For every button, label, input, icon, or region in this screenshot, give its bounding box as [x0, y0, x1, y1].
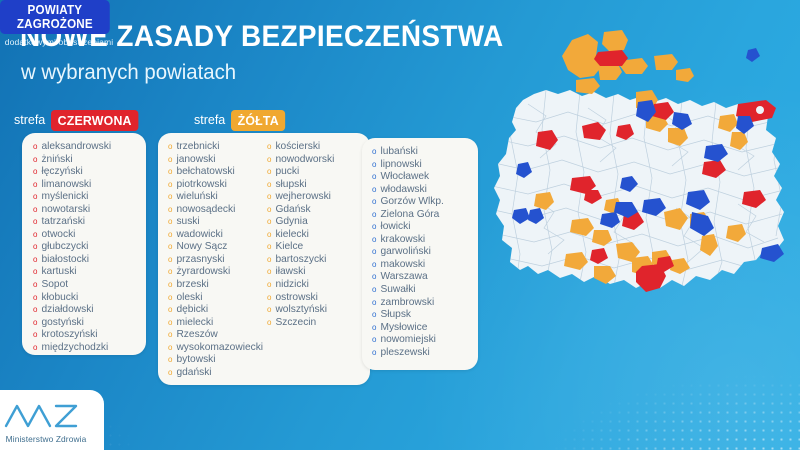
list-item: otatrzański — [33, 216, 111, 229]
list-item: ożyrardowski — [168, 266, 263, 279]
list-item: owejherowski — [267, 191, 334, 204]
yellow-zone-word: strefa — [194, 113, 225, 127]
bullet-icon: o — [372, 284, 376, 297]
list-item: oWarszawa — [372, 271, 444, 284]
list-item: okielecki — [267, 229, 334, 242]
list-item-label: bytowski — [176, 354, 215, 367]
list-item: ooleski — [168, 292, 263, 305]
list-item: obełchatowski — [168, 166, 263, 179]
list-item-label: bełchatowski — [176, 166, 234, 179]
bullet-icon: o — [267, 191, 271, 204]
list-item-label: wolsztyński — [275, 304, 327, 317]
bullet-icon: o — [372, 334, 376, 347]
list-item-label: Włocławek — [380, 171, 429, 184]
list-item: ołęczyński — [33, 166, 111, 179]
bullet-icon: o — [372, 271, 376, 284]
list-item-label: nowosądecki — [176, 204, 235, 217]
list-item-label: zambrowski — [380, 297, 434, 310]
list-item: olubański — [372, 146, 444, 159]
red-zone-badge: CZERWONA — [51, 110, 138, 131]
list-item: okartuski — [33, 266, 111, 279]
bullet-icon: o — [168, 254, 172, 267]
list-item-label: przasnyski — [176, 254, 224, 267]
list-item-label: Mysłowice — [380, 322, 427, 335]
list-item-label: wejherowski — [275, 191, 330, 204]
list-item-label: krakowski — [380, 234, 425, 247]
list-item: onidzicki — [267, 279, 334, 292]
bullet-icon: o — [33, 292, 37, 305]
list-item: obrzeski — [168, 279, 263, 292]
bullet-icon: o — [168, 191, 172, 204]
list-item-label: lipnowski — [380, 159, 421, 172]
bullet-icon: o — [372, 221, 376, 234]
list-item: onowotarski — [33, 204, 111, 217]
list-item: ogostyński — [33, 317, 111, 330]
list-item-label: oleski — [176, 292, 202, 305]
bullet-icon: o — [372, 159, 376, 172]
bullet-icon: o — [168, 304, 172, 317]
list-item: oprzasnyski — [168, 254, 263, 267]
list-item-label: białostocki — [41, 254, 89, 267]
list-item-label: Nowy Sącz — [176, 241, 227, 254]
bullet-icon: o — [372, 196, 376, 209]
list-item: ogarwoliński — [372, 246, 444, 259]
bullet-icon: o — [168, 354, 172, 367]
bullet-icon: o — [267, 266, 271, 279]
list-item-label: trzebnicki — [176, 141, 219, 154]
ministry-logo-panel: Ministerstwo Zdrowia — [0, 390, 104, 450]
list-item-label: wadowicki — [176, 229, 222, 242]
list-item-label: garwoliński — [380, 246, 430, 259]
bullet-icon: o — [168, 329, 172, 342]
poland-counties-map — [476, 4, 800, 404]
list-item: oaleksandrowski — [33, 141, 111, 154]
list-item-label: wieluński — [176, 191, 217, 204]
list-item: owysokomazowiecki — [168, 342, 263, 355]
list-item-label: Rzeszów — [176, 329, 217, 342]
list-item: omielecki — [168, 317, 263, 330]
list-item: ogdański — [168, 367, 263, 380]
list-item-label: Szczecin — [275, 317, 316, 330]
list-item: oGdynia — [267, 216, 334, 229]
bullet-icon: o — [33, 241, 37, 254]
list-item: oZielona Góra — [372, 209, 444, 222]
list-item-label: lubański — [380, 146, 417, 159]
list-item: okłobucki — [33, 292, 111, 305]
list-item-label: kłobucki — [41, 292, 78, 305]
bullet-icon: o — [267, 166, 271, 179]
bullet-icon: o — [33, 317, 37, 330]
list-item: opucki — [267, 166, 334, 179]
list-item: omakowski — [372, 259, 444, 272]
list-item: okrotoszyński — [33, 329, 111, 342]
list-item-label: Suwałki — [380, 284, 415, 297]
list-item-label: żniński — [41, 154, 72, 167]
list-item: oSzczecin — [267, 317, 334, 330]
bullet-icon: o — [33, 191, 37, 204]
list-item-label: wysokomazowiecki — [176, 342, 263, 355]
list-item: owieluński — [168, 191, 263, 204]
list-item: okrakowski — [372, 234, 444, 247]
list-item-label: kościerski — [275, 141, 320, 154]
list-item-label: nowotarski — [41, 204, 90, 217]
list-item: onowomiejski — [372, 334, 444, 347]
list-item: owłodawski — [372, 184, 444, 197]
bullet-icon: o — [168, 367, 172, 380]
list-item-label: łęczyński — [41, 166, 82, 179]
list-item-label: kartuski — [41, 266, 76, 279]
red-zone-header: strefa CZERWONA — [14, 110, 143, 131]
bullet-icon: o — [168, 154, 172, 167]
bullet-icon: o — [372, 259, 376, 272]
list-item: ojanowski — [168, 154, 263, 167]
list-item-label: bartoszycki — [275, 254, 326, 267]
list-item: ołowicki — [372, 221, 444, 234]
list-item-label: pleszewski — [380, 347, 429, 360]
list-item: opleszewski — [372, 347, 444, 360]
bullet-icon: o — [372, 347, 376, 360]
bullet-icon: o — [372, 309, 376, 322]
bullet-icon: o — [168, 179, 172, 192]
bullet-icon: o — [33, 204, 37, 217]
bullet-icon: o — [33, 179, 37, 192]
list-item-label: makowski — [380, 259, 425, 272]
list-item: oRzeszów — [168, 329, 263, 342]
list-item: oiławski — [267, 266, 334, 279]
list-item-label: krotoszyński — [41, 329, 97, 342]
bullet-icon: o — [267, 279, 271, 292]
list-item-label: Gorzów Wlkp. — [380, 196, 443, 209]
bullet-icon: o — [372, 171, 376, 184]
list-item-label: ostrowski — [275, 292, 317, 305]
bullet-icon: o — [33, 141, 37, 154]
threatened-zone-list: olubańskiolipnowskioWłocławekowłodawskio… — [372, 146, 444, 359]
list-item: onowosądecki — [168, 204, 263, 217]
list-item: opiotrkowski — [168, 179, 263, 192]
list-item-label: Gdynia — [275, 216, 307, 229]
bullet-icon: o — [372, 246, 376, 259]
bullet-icon: o — [168, 241, 172, 254]
bullet-icon: o — [33, 266, 37, 279]
bullet-icon: o — [168, 166, 172, 179]
list-item: obytowski — [168, 354, 263, 367]
bullet-icon: o — [267, 216, 271, 229]
list-item-label: gostyński — [41, 317, 83, 330]
list-item-label: głubczycki — [41, 241, 88, 254]
bullet-icon: o — [33, 342, 37, 355]
list-item: osłupski — [267, 179, 334, 192]
list-item: oWłocławek — [372, 171, 444, 184]
list-item-label: Gdańsk — [275, 204, 310, 217]
list-item-label: tatrzański — [41, 216, 85, 229]
bullet-icon: o — [168, 229, 172, 242]
infographic-poster: NOWE ZASADY BEZPIECZEŃSTWA w wybranych p… — [0, 0, 800, 450]
list-item: obartoszycki — [267, 254, 334, 267]
list-item-label: suski — [176, 216, 199, 229]
bullet-icon: o — [168, 141, 172, 154]
list-item: odziałdowski — [33, 304, 111, 317]
list-item: owadowicki — [168, 229, 263, 242]
list-item-label: działdowski — [41, 304, 93, 317]
bullet-icon: o — [168, 317, 172, 330]
list-item-label: międzychodzki — [41, 342, 108, 355]
bullet-icon: o — [168, 216, 172, 229]
list-item-label: pucki — [275, 166, 299, 179]
list-item-label: łowicki — [380, 221, 410, 234]
threatened-zone-badge: POWIATY ZAGROŻONE — [0, 0, 110, 34]
list-item-label: słupski — [275, 179, 306, 192]
bullet-icon: o — [267, 141, 271, 154]
list-item: otrzebnicki — [168, 141, 263, 154]
bullet-icon: o — [33, 304, 37, 317]
bullet-icon: o — [168, 266, 172, 279]
bullet-icon: o — [372, 146, 376, 159]
list-item-label: otwocki — [41, 229, 75, 242]
list-item: onowodworski — [267, 154, 334, 167]
bullet-icon: o — [372, 297, 376, 310]
bullet-icon: o — [168, 204, 172, 217]
bullet-icon: o — [372, 184, 376, 197]
list-item: ootwocki — [33, 229, 111, 242]
list-item-label: Warszawa — [380, 271, 427, 284]
ministry-logo-text: Ministerstwo Zdrowia — [0, 434, 94, 444]
bullet-icon: o — [372, 209, 376, 222]
list-item: oSłupsk — [372, 309, 444, 322]
list-item-label: myślenicki — [41, 191, 88, 204]
list-item: odębicki — [168, 304, 263, 317]
list-item: oMysłowice — [372, 322, 444, 335]
yellow-zone-list-column-2: okościerskionowodworskiopuckiosłupskiowe… — [267, 141, 334, 329]
red-zone-list: oaleksandrowskiożnińskiołęczyńskiolimano… — [33, 141, 111, 354]
list-item: osuski — [168, 216, 263, 229]
list-item-label: iławski — [275, 266, 305, 279]
list-item-label: dębicki — [176, 304, 208, 317]
bullet-icon: o — [33, 329, 37, 342]
list-item: oSopot — [33, 279, 111, 292]
bullet-icon: o — [267, 179, 271, 192]
bullet-icon: o — [267, 241, 271, 254]
bullet-icon: o — [372, 322, 376, 335]
bullet-icon: o — [267, 304, 271, 317]
list-item: oKielce — [267, 241, 334, 254]
list-item-label: janowski — [176, 154, 215, 167]
bullet-icon: o — [267, 292, 271, 305]
bullet-icon: o — [33, 229, 37, 242]
list-item-label: limanowski — [41, 179, 91, 192]
list-item-label: gdański — [176, 367, 211, 380]
yellow-zone-badge: ŻÓŁTA — [231, 110, 285, 131]
red-zone-word: strefa — [14, 113, 45, 127]
list-item-label: Słupsk — [380, 309, 411, 322]
bullet-icon: o — [33, 154, 37, 167]
list-item-label: włodawski — [380, 184, 426, 197]
list-item-label: nowodworski — [275, 154, 334, 167]
bullet-icon: o — [33, 279, 37, 292]
bullet-icon: o — [168, 292, 172, 305]
list-item: oGorzów Wlkp. — [372, 196, 444, 209]
list-item-label: Kielce — [275, 241, 303, 254]
list-item: olipnowski — [372, 159, 444, 172]
list-item: omyślenicki — [33, 191, 111, 204]
bullet-icon: o — [267, 229, 271, 242]
list-item: owolsztyński — [267, 304, 334, 317]
bullet-icon: o — [267, 254, 271, 267]
list-item-label: Sopot — [41, 279, 68, 292]
list-item: okościerski — [267, 141, 334, 154]
list-item-label: Zielona Góra — [380, 209, 439, 222]
bullet-icon: o — [267, 154, 271, 167]
bullet-icon: o — [267, 204, 271, 217]
list-item: oostrowski — [267, 292, 334, 305]
mz-logo-icon — [4, 400, 82, 430]
yellow-zone-header: strefa ŻÓŁTA — [194, 110, 289, 131]
list-item-label: nowomiejski — [380, 334, 435, 347]
page-subtitle: w wybranych powiatach — [21, 62, 236, 84]
list-item: oNowy Sącz — [168, 241, 263, 254]
list-item-label: brzeski — [176, 279, 208, 292]
list-item: oSuwałki — [372, 284, 444, 297]
bullet-icon: o — [372, 234, 376, 247]
list-item-label: piotrkowski — [176, 179, 226, 192]
yellow-zone-list-column-1: otrzebnickiojanowskiobełchatowskiopiotrk… — [168, 141, 263, 379]
list-item: ogłubczycki — [33, 241, 111, 254]
list-item: oGdańsk — [267, 204, 334, 217]
bullet-icon: o — [33, 216, 37, 229]
bullet-icon: o — [168, 279, 172, 292]
list-item-label: nidzicki — [275, 279, 308, 292]
bullet-icon: o — [33, 166, 37, 179]
bullet-icon: o — [168, 342, 172, 355]
list-item: ożniński — [33, 154, 111, 167]
bullet-icon: o — [267, 317, 271, 330]
list-item-label: aleksandrowski — [41, 141, 111, 154]
list-item: ozambrowski — [372, 297, 444, 310]
list-item: olimanowski — [33, 179, 111, 192]
list-item: obiałostocki — [33, 254, 111, 267]
list-item: omiędzychodzki — [33, 342, 111, 355]
list-item-label: mielecki — [176, 317, 213, 330]
list-item-label: kielecki — [275, 229, 308, 242]
bullet-icon: o — [33, 254, 37, 267]
list-item-label: żyrardowski — [176, 266, 230, 279]
